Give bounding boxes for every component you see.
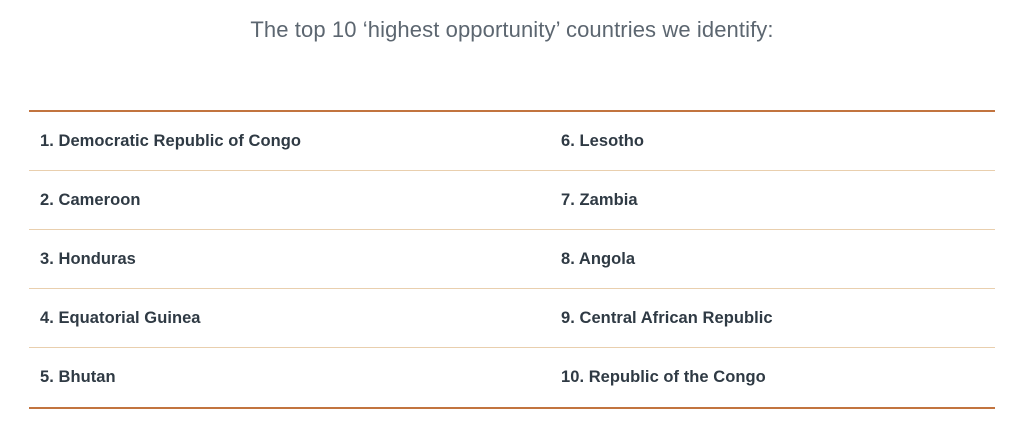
country-entry-6: 6. Lesotho <box>554 112 995 170</box>
country-entry-10: 10. Republic of the Congo <box>554 348 995 407</box>
country-entry-1: 1. Democratic Republic of Congo <box>29 112 554 170</box>
country-entry-9: 9. Central African Republic <box>554 289 995 347</box>
opportunity-countries-page: The top 10 ‘highest opportunity’ countri… <box>0 0 1024 430</box>
page-title: The top 10 ‘highest opportunity’ countri… <box>0 17 1024 43</box>
table-row: 1. Democratic Republic of Congo 6. Lesot… <box>29 112 995 171</box>
country-entry-7: 7. Zambia <box>554 171 995 229</box>
country-entry-2: 2. Cameroon <box>29 171 554 229</box>
table-row: 5. Bhutan 10. Republic of the Congo <box>29 348 995 407</box>
table-row: 4. Equatorial Guinea 9. Central African … <box>29 289 995 348</box>
top-countries-table: 1. Democratic Republic of Congo 6. Lesot… <box>29 110 995 409</box>
table-row: 3. Honduras 8. Angola <box>29 230 995 289</box>
country-entry-4: 4. Equatorial Guinea <box>29 289 554 347</box>
country-entry-5: 5. Bhutan <box>29 348 554 407</box>
table-row: 2. Cameroon 7. Zambia <box>29 171 995 230</box>
country-entry-8: 8. Angola <box>554 230 995 288</box>
country-entry-3: 3. Honduras <box>29 230 554 288</box>
